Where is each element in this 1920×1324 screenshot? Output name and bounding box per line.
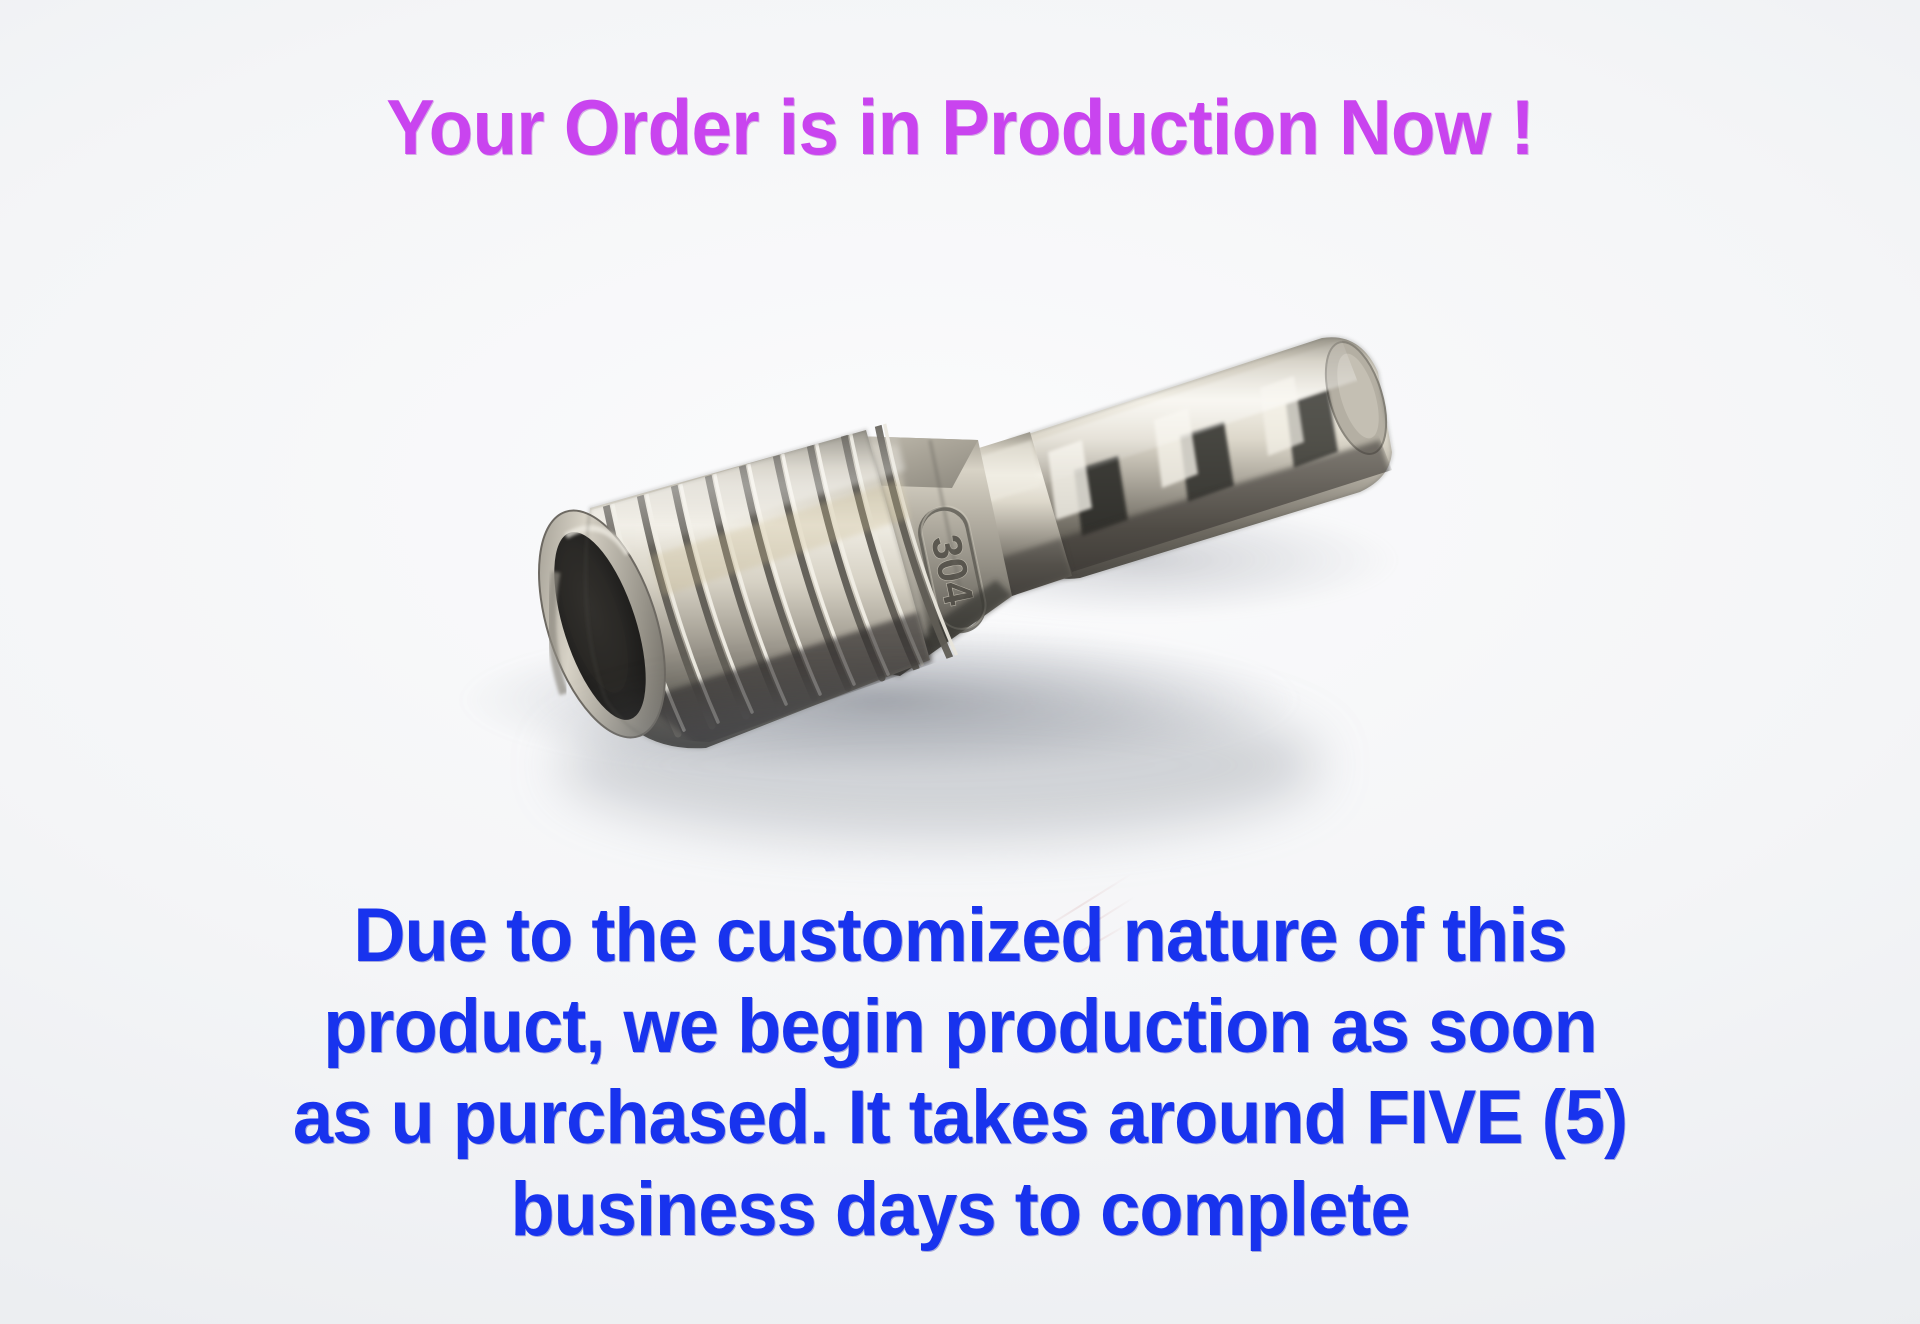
message-band: Due to the customized nature of this pro…: [0, 890, 1920, 1255]
barb-section: [1010, 330, 1398, 582]
product-drop-shadow: [560, 690, 1320, 840]
contact-shadow-2: [880, 500, 1400, 620]
message-line-1: Due to the customized nature of this: [48, 890, 1872, 981]
promo-image: 304: [0, 0, 1920, 1324]
message-line-3: as u purchased. It takes around FIVE (5): [48, 1072, 1872, 1163]
message-line-4: business days to complete: [48, 1164, 1872, 1255]
barb-shoulder: [966, 432, 1072, 598]
message-line-2: product, we begin production as soon: [48, 981, 1872, 1072]
grade-stamp-text: 304: [922, 531, 983, 610]
hex-body: 304: [806, 436, 1012, 676]
headline-band: Your Order is in Production Now !: [0, 88, 1920, 166]
headline-text: Your Order is in Production Now !: [386, 88, 1534, 166]
grade-stamp: 304: [915, 502, 990, 636]
